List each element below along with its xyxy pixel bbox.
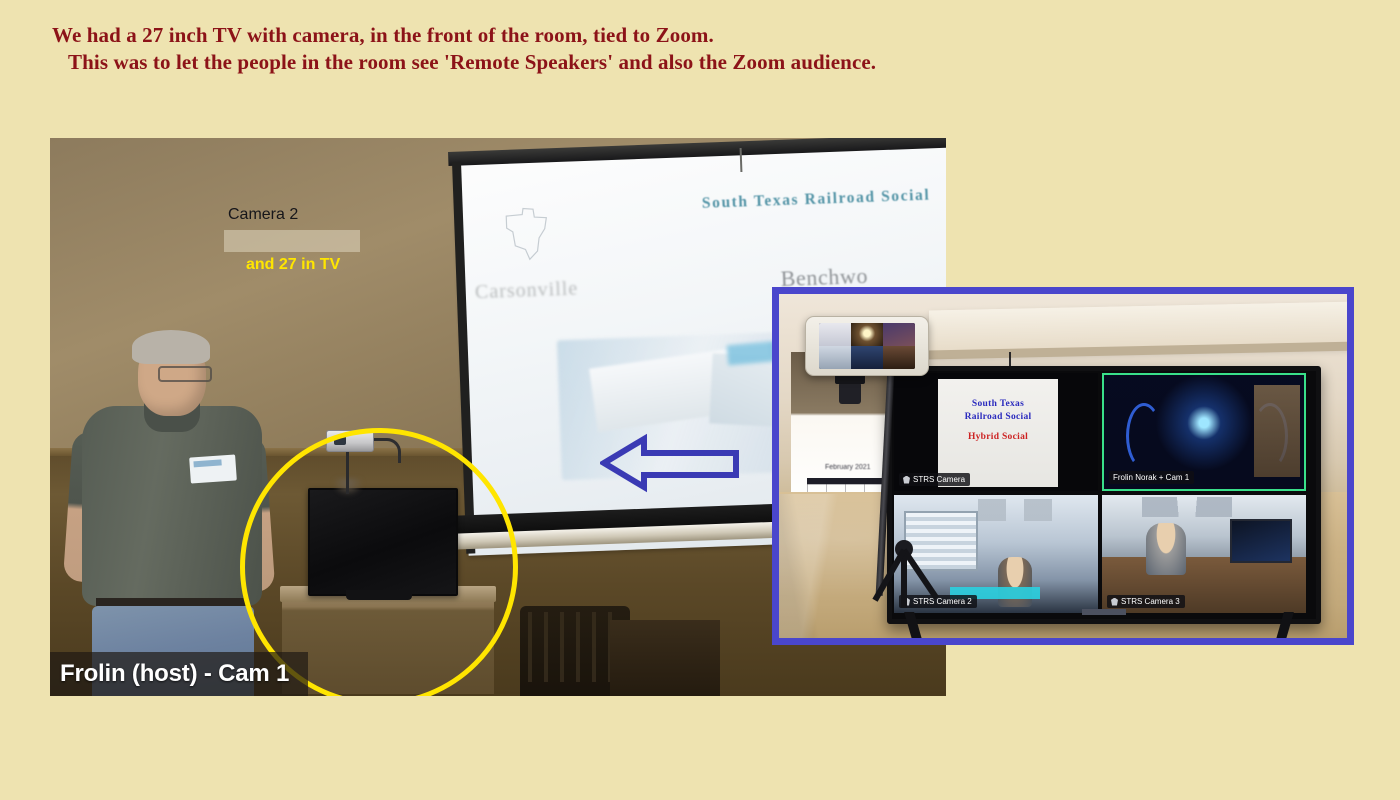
phone-tile <box>819 323 851 346</box>
presenter-torso <box>82 406 262 606</box>
texas-outline-icon <box>500 204 554 264</box>
smartphone-screen <box>819 323 915 369</box>
zoom-slide-line-2: Railroad Social <box>938 412 1058 422</box>
room-dark-box <box>610 620 720 696</box>
zoom-slide-line-1: South Texas <box>938 399 1058 409</box>
slide-sub-left: Carsonville <box>475 278 579 305</box>
presenter-figure <box>60 336 280 696</box>
zoom-tile-top-left: South Texas Railroad Social Hybrid Socia… <box>894 373 1098 491</box>
zoom-tile-label-top-right: Frolin Norak + Cam 1 <box>1109 471 1194 484</box>
zoom-tile-label-text: Frolin Norak + Cam 1 <box>1113 473 1189 482</box>
participant-icon <box>903 476 910 484</box>
room-chair-slats <box>528 612 622 682</box>
phone-tile <box>851 346 883 369</box>
phone-tile <box>883 323 915 346</box>
zoom-tile-bottom-right: STRS Camera 3 <box>1102 495 1306 613</box>
tv-leg-left <box>904 612 924 645</box>
glasses-icon <box>158 366 212 382</box>
camera2-sublabel: and 27 in TV <box>246 256 340 274</box>
caption-line-1: We had a 27 inch TV with camera, in the … <box>0 22 1400 49</box>
tile-participant <box>998 557 1032 607</box>
tile-shelf <box>1254 385 1300 477</box>
inset-tv-screen: South Texas Railroad Social Hybrid Socia… <box>887 366 1321 624</box>
blue-arrow-icon <box>600 433 740 493</box>
zoom-tile-slide: South Texas Railroad Social Hybrid Socia… <box>938 379 1058 487</box>
screenshot-canvas: We had a 27 inch TV with camera, in the … <box>0 0 1400 800</box>
mounted-smartphone <box>805 316 929 376</box>
presenter-name-badge <box>189 454 237 483</box>
caption-line-2: This was to let the people in the room s… <box>0 49 1400 76</box>
camera2-label: Camera 2 <box>228 206 298 224</box>
tile-participant <box>1146 523 1186 575</box>
participant-icon <box>1111 598 1118 606</box>
calendar-month-label: February 2021 <box>825 464 871 471</box>
zoom-tile-label-bottom-right: STRS Camera 3 <box>1107 595 1185 608</box>
zoom-tile-top-right: Frolin Norak + Cam 1 <box>1102 373 1306 491</box>
phone-tile <box>819 346 851 369</box>
ceiling-fan-icon <box>1142 497 1232 517</box>
slide-title: South Texas Railroad Social <box>702 187 931 213</box>
zoom-tile-label-text: STRS Camera <box>913 475 965 484</box>
tripod-base <box>861 546 945 608</box>
zoom-tile-label-text: STRS Camera 3 <box>1121 597 1180 606</box>
tripod-leg <box>902 548 939 599</box>
tile-monitor <box>1230 519 1292 563</box>
zoom-tile-label-top-left: STRS Camera <box>899 473 970 486</box>
zoom-slide-line-3: Hybrid Social <box>938 432 1058 442</box>
tv-leg-right <box>1274 612 1294 645</box>
inset-tv-legs: Haier <box>887 612 1311 645</box>
speaker-name-text: Frolin (host) - Cam 1 <box>50 660 289 688</box>
caption-block: We had a 27 inch TV with camera, in the … <box>0 22 1400 76</box>
presenter-hair <box>132 330 210 364</box>
inset-tv-setup-photo: February 2021 South Texas Railroad Socia… <box>772 287 1354 645</box>
phone-mount-lower <box>839 382 861 404</box>
phone-tile <box>883 346 915 369</box>
speaker-name-banner: Frolin (host) - Cam 1 <box>50 652 308 696</box>
phone-tile <box>851 323 883 346</box>
light-arc-left <box>1126 403 1162 469</box>
camera2-highlight-box <box>224 230 360 252</box>
ceiling-fan-icon <box>978 499 1052 521</box>
